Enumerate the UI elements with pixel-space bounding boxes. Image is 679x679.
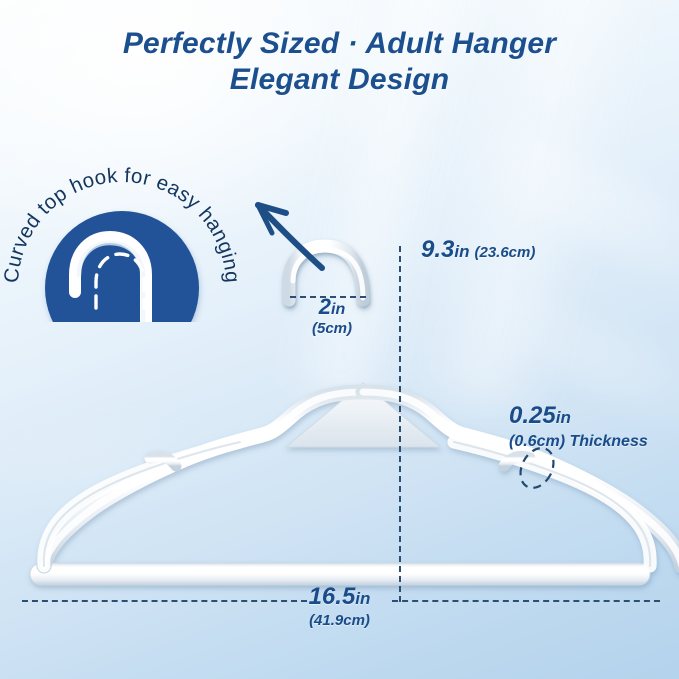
dimension-hook-unit: in — [331, 301, 345, 318]
light-streak — [0, 412, 223, 508]
infographic-canvas: Perfectly Sized · Adult Hanger Elegant D… — [0, 0, 679, 679]
hanger-left-shoulder-highlight — [44, 392, 363, 566]
callout-arrow — [258, 205, 322, 268]
hanger-hook-curve — [289, 246, 363, 300]
dimension-height-unit: in — [454, 242, 469, 261]
hanger-bottom-bar — [30, 563, 650, 585]
dimension-height-value: 9.3 — [421, 236, 454, 263]
dimension-height-metric: (23.6cm) — [474, 244, 535, 261]
hanger-left-inner-rim — [44, 442, 240, 566]
hanger-center-gusset — [286, 383, 440, 447]
badge-circle — [45, 211, 199, 322]
dimension-thickness: 0.25in (0.6cm) Thickness — [509, 404, 648, 453]
dimension-height: 9.3in(23.6cm) — [421, 236, 535, 264]
title-line-2: Elegant Design — [0, 62, 679, 98]
dimension-width-value: 16.5 — [309, 583, 356, 610]
hanger-left-inner-rim-edge — [44, 442, 240, 566]
dimension-hook-metric: (5cm) — [292, 319, 372, 338]
dimension-width-metric: (41.9cm) — [0, 610, 679, 631]
dimension-width: 16.5in (41.9cm) — [0, 586, 679, 631]
hanger-illustration — [0, 0, 679, 679]
dimension-thickness-label: Thickness — [569, 433, 647, 450]
hanger-left-strap-notch — [150, 456, 176, 466]
height-guide-line — [399, 246, 401, 602]
dimension-thickness-unit: in — [556, 408, 571, 427]
dimension-width-unit: in — [355, 589, 370, 608]
hanger-right-inner-rim — [454, 442, 650, 566]
dimension-hook-opening: 2in (5cm) — [292, 297, 372, 338]
dimension-hook-value: 2 — [319, 294, 331, 319]
hanger-right-inner-rim-edge — [454, 442, 650, 566]
page-title: Perfectly Sized · Adult Hanger Elegant D… — [0, 26, 679, 98]
hanger-right-strap-notch — [504, 456, 530, 466]
dimension-thickness-metric-label: (0.6cm) Thickness — [509, 430, 648, 453]
feature-badge: Curved top hook for easy hanging — [4, 136, 248, 322]
hanger-left-shoulder — [44, 392, 363, 566]
dimension-thickness-value: 0.25 — [509, 402, 556, 429]
light-streak — [431, 101, 679, 309]
hanger-hook-highlight — [293, 250, 363, 298]
dimension-thickness-metric: (0.6cm) — [509, 433, 565, 450]
title-line-1: Perfectly Sized · Adult Hanger — [123, 27, 556, 60]
